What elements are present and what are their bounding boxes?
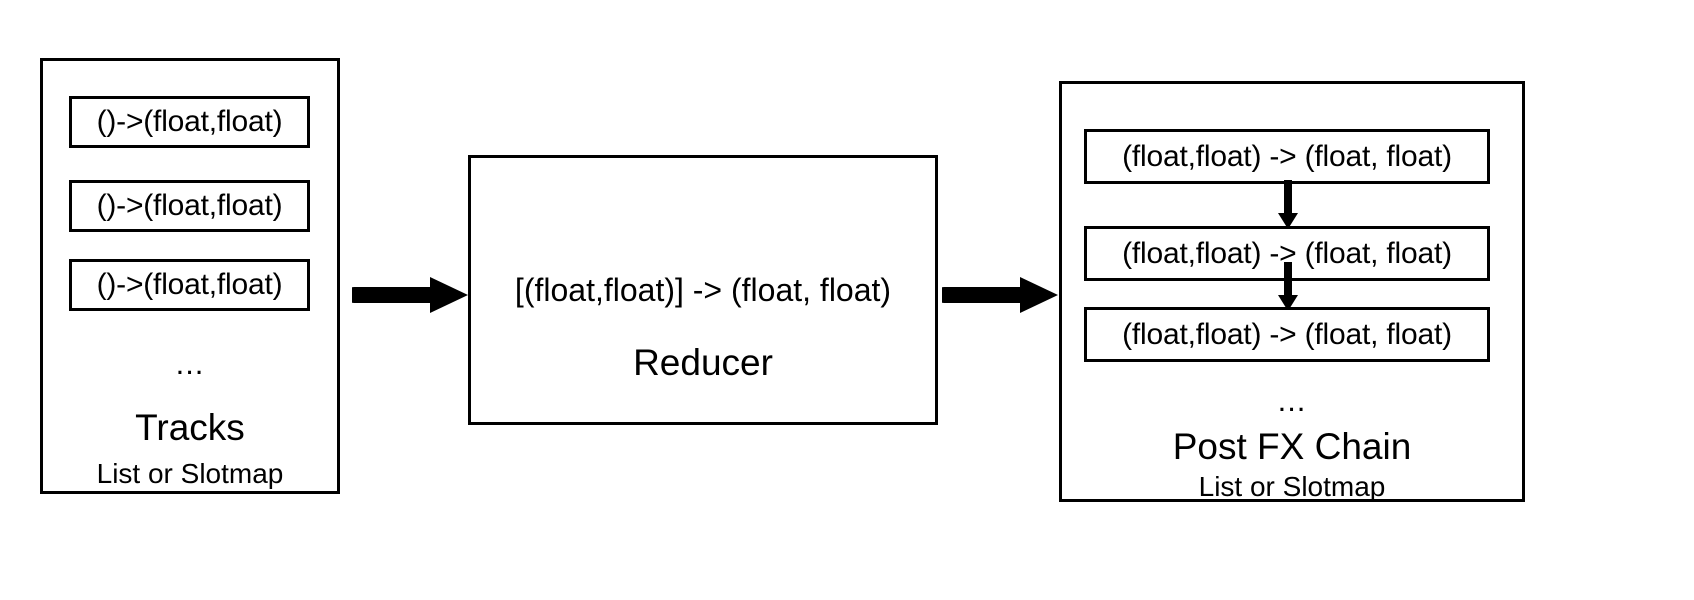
arrow-reducer-to-postfx xyxy=(942,275,1060,315)
reducer-caption: Reducer xyxy=(468,344,938,381)
track-item-1[interactable]: ()->(float,float) xyxy=(69,96,310,148)
postfx-chain-arrow-1 xyxy=(1274,180,1302,230)
track-item-3-label: ()->(float,float) xyxy=(97,270,283,300)
track-item-2[interactable]: ()->(float,float) xyxy=(69,180,310,232)
tracks-caption: Tracks xyxy=(40,409,340,446)
track-item-1-label: ()->(float,float) xyxy=(97,107,283,137)
diagram-canvas: ()->(float,float) ()->(float,float) ()->… xyxy=(0,0,1694,600)
postfx-chain-arrow-2 xyxy=(1274,262,1302,312)
arrow-tracks-to-reducer xyxy=(352,275,470,315)
track-item-3[interactable]: ()->(float,float) xyxy=(69,259,310,311)
track-item-2-label: ()->(float,float) xyxy=(97,191,283,221)
postfx-ellipsis: ... xyxy=(1059,385,1525,416)
postfx-item-1-label: (float,float) -> (float, float) xyxy=(1122,142,1452,172)
reducer-signature: [(float,float)] -> (float, float) xyxy=(468,274,938,306)
postfx-caption: Post FX Chain xyxy=(1059,428,1525,465)
tracks-subcaption: List or Slotmap xyxy=(40,460,340,488)
postfx-item-3-label: (float,float) -> (float, float) xyxy=(1122,320,1452,350)
postfx-subcaption: List or Slotmap xyxy=(1059,473,1525,501)
postfx-item-3[interactable]: (float,float) -> (float, float) xyxy=(1084,307,1490,362)
tracks-ellipsis: ... xyxy=(40,348,340,379)
postfx-item-1[interactable]: (float,float) -> (float, float) xyxy=(1084,129,1490,184)
